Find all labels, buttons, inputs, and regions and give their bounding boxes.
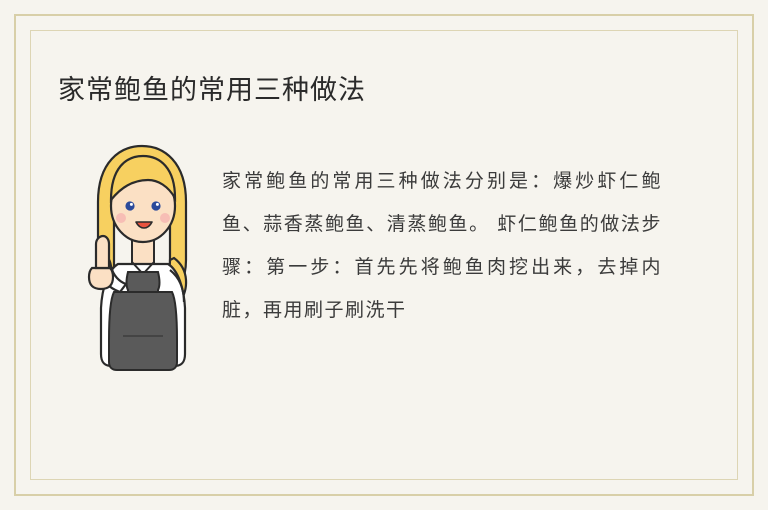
page-title: 家常鲍鱼的常用三种做法 <box>58 68 366 107</box>
document-page: 家常鲍鱼的常用三种做法 <box>0 0 768 510</box>
article-body: 家常鲍鱼的常用三种做法分别是：爆炒虾仁鲍鱼、蒜香蒸鲍鱼、清蒸鲍鱼。 虾仁鲍鱼的做… <box>222 160 662 332</box>
cartoon-girl-pointing-up-icon <box>78 140 208 380</box>
